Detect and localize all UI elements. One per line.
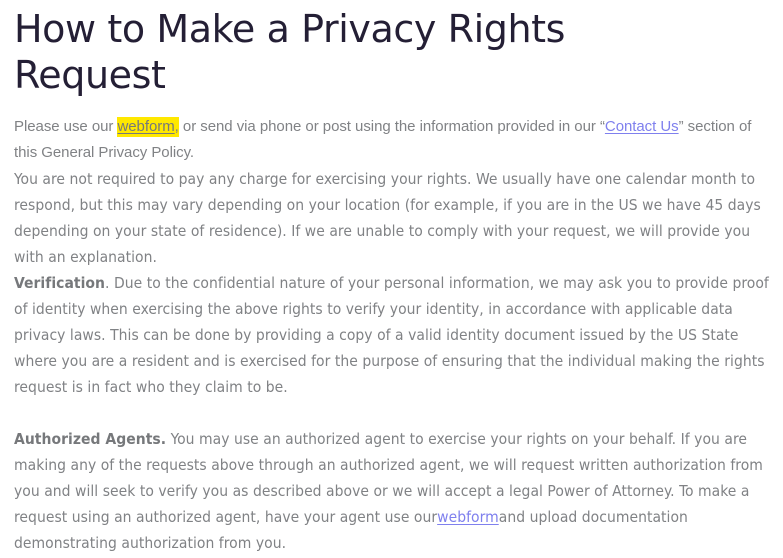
webform-highlight: webform,	[117, 117, 178, 137]
verification-text: . Due to the confidential nature of your…	[14, 274, 769, 396]
authorized-agents-lead-term: Authorized Agents.	[14, 430, 166, 448]
paragraph-spacer	[14, 400, 769, 426]
verification-lead-term: Verification	[14, 274, 105, 292]
paragraph-verification: Verification. Due to the confidential na…	[14, 270, 769, 400]
paragraph-charges: You are not required to pay any charge f…	[14, 166, 769, 270]
intro-text-middle: or send via phone or post using the info…	[179, 118, 605, 135]
paragraph-intro: Please use our webform, or send via phon…	[14, 114, 769, 166]
contact-us-link[interactable]: Contact Us	[605, 118, 679, 135]
intro-text-before: Please use our	[14, 118, 117, 135]
webform-link-highlighted[interactable]: webform	[117, 118, 174, 135]
privacy-policy-page: How to Make a Privacy Rights Request Ple…	[0, 0, 783, 558]
webform-link-secondary[interactable]: webform	[437, 508, 499, 526]
paragraph-authorized-agents: Authorized Agents. You may use an author…	[14, 426, 769, 556]
policy-body: Please use our webform, or send via phon…	[14, 114, 769, 556]
page-title: How to Make a Privacy Rights Request	[14, 0, 704, 98]
